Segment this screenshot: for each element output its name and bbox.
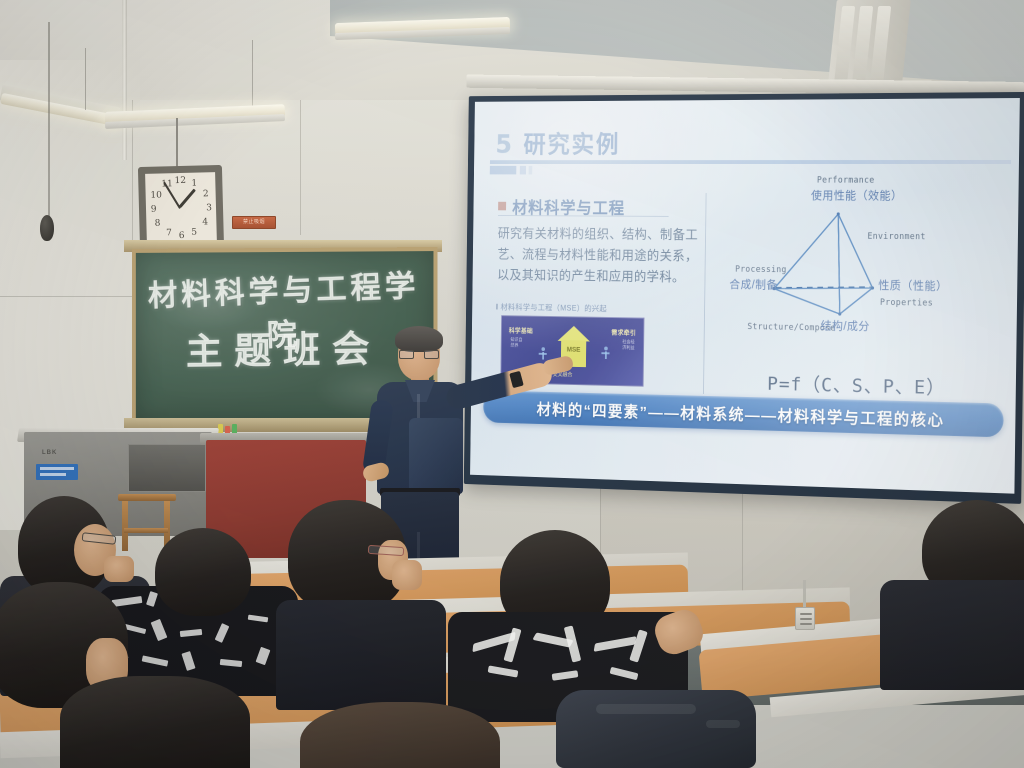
slide-banner-text: 材料的“四要素”——材料系统——材料科学与工程的核心 — [537, 396, 945, 430]
console-logo: LBK — [42, 450, 57, 456]
tetra-structure-cn: 结构/成分 — [821, 320, 870, 335]
mini-caption-text: 材料科学与工程（MSE）的兴起 — [501, 303, 608, 313]
slide-title-tick — [520, 166, 526, 175]
clock-number: 8 — [155, 219, 161, 229]
presenter-placket — [417, 394, 420, 418]
glasses-icon — [399, 350, 439, 359]
wall-clock: 12 1 2 3 4 5 6 7 8 9 10 11 — [138, 165, 224, 251]
mse-figure-icon — [601, 346, 609, 363]
tetra-properties-en: Properties — [880, 298, 933, 309]
student-hand — [104, 556, 134, 582]
student-head — [300, 702, 500, 768]
student-head — [60, 676, 250, 768]
clock-number: 5 — [191, 228, 197, 238]
clock-number: 3 — [206, 204, 212, 214]
light-rod — [122, 0, 127, 160]
presenter-pointing-arm — [444, 360, 555, 411]
mse-right-sub: 社会经济利益 — [622, 339, 635, 350]
clock-face: 12 1 2 3 4 5 6 7 8 9 10 11 — [145, 172, 217, 244]
clock-number: 1 — [191, 179, 197, 189]
light-wire — [85, 48, 86, 110]
classroom-photo: 12 1 2 3 4 5 6 7 8 9 10 11 禁止吸烟 材料科学与工程学… — [0, 0, 1024, 768]
slide-title: 研究实例 — [523, 126, 620, 161]
tetra-formula: P=f（C、S、P、E） — [767, 369, 946, 400]
square-bullet-icon — [498, 202, 506, 211]
student-body — [880, 580, 1024, 690]
tetrahedron-diagram: Performance 使用性能（效能） Environment Process… — [709, 170, 998, 419]
electrical-conduit — [803, 580, 806, 610]
clock-number: 10 — [150, 191, 162, 201]
tetra-apex-en: Performance — [817, 176, 875, 186]
tetra-apex-cn: 使用性能（效能） — [811, 189, 880, 203]
wall-seam — [0, 296, 132, 297]
clock-number: 12 — [174, 176, 186, 186]
slide-title-tick — [529, 166, 533, 175]
console-label-sticker — [36, 464, 78, 480]
presenter-hair — [395, 326, 443, 352]
student-hand — [392, 560, 422, 590]
slide-title-row: 5 研究实例 — [495, 126, 620, 161]
clock-number: 4 — [202, 218, 208, 228]
student-body — [276, 600, 446, 710]
clock-number: 7 — [166, 228, 172, 238]
mse-right-label: 需求牵引 — [611, 327, 636, 337]
power-outlet — [795, 607, 815, 630]
slide-vertical-divider — [703, 193, 707, 394]
slide-title-tick — [490, 166, 517, 175]
mini-caption-marker: I — [496, 303, 498, 312]
backpack — [556, 690, 756, 768]
wall-notice-sign: 禁止吸烟 — [232, 216, 276, 229]
tetra-environment-en: Environment — [867, 232, 925, 242]
presenter-shirt-shading — [409, 418, 463, 494]
wall-seam — [300, 100, 301, 235]
clock-number: 2 — [203, 190, 209, 200]
clock-hour-hand — [179, 189, 196, 208]
tetra-processing-en: Processing — [735, 265, 787, 275]
console-open-compartment — [128, 444, 206, 492]
tetra-properties-cn: 性质（性能） — [878, 279, 948, 294]
clock-hanger — [176, 118, 178, 168]
slide-section-number: 5 — [495, 130, 512, 159]
slide-title-rule — [490, 160, 1011, 164]
light-wire — [252, 40, 253, 110]
slide-mini-caption: I 材料科学与工程（MSE）的兴起 — [496, 302, 607, 314]
student-head — [155, 528, 251, 616]
slide-body-text: 研究有关材料的组织、结构、制备工艺、流程与材料性能和用途的关系，以及其知识的产生… — [497, 224, 701, 289]
ceiling-light-fixture — [827, 0, 911, 92]
wall-notice-text: 禁止吸烟 — [233, 217, 275, 228]
pull-cord-weight — [40, 215, 54, 241]
clock-number: 9 — [151, 205, 157, 215]
tetra-processing-cn: 合成/制备 — [729, 278, 777, 293]
pull-cord — [48, 22, 50, 222]
